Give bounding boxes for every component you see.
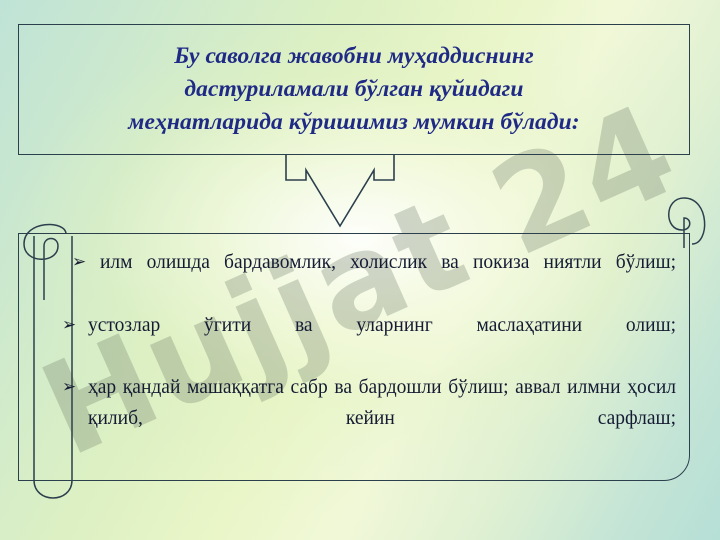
title-line-1: Бу саволга жавобни муҳаддиснинг — [34, 40, 674, 73]
page-title: Бу саволга жавобни муҳаддиснинг дастурил… — [34, 40, 674, 139]
list-item-text: устозлар ўгити ва уларнинг маслаҳатини о… — [88, 315, 676, 336]
arrow-bullet-icon: ➢ — [62, 312, 76, 339]
slide-canvas: Hujjat 24 Бу саволга жавобни муҳаддиснин… — [0, 0, 720, 540]
title-line-3: меҳнатларида кўришимиз мумкин бўлади: — [34, 106, 674, 139]
arrow-bullet-icon: ➢ — [62, 374, 76, 401]
list-item-text: илм олишда бардавомлик, холислик ва поки… — [100, 252, 676, 273]
bullet-list: ➢ илм олишда бардавомлик, холислик ва по… — [62, 248, 676, 467]
list-item: ➢ ҳар қандай машаққатга сабр ва бардошли… — [62, 373, 676, 465]
title-box: Бу саволга жавобни муҳаддиснинг дастурил… — [18, 24, 690, 155]
list-item: ➢ устозлар ўгити ва уларнинг маслаҳатини… — [62, 311, 676, 373]
arrow-bullet-icon: ➢ — [72, 249, 86, 276]
down-arrow-icon — [284, 154, 396, 234]
list-item: ➢ илм олишда бардавомлик, холислик ва по… — [62, 248, 676, 310]
title-line-2: дастуриламали бўлган қуйидаги — [34, 73, 674, 106]
list-item-text: ҳар қандай машаққатга сабр ва бардошли б… — [88, 377, 676, 429]
